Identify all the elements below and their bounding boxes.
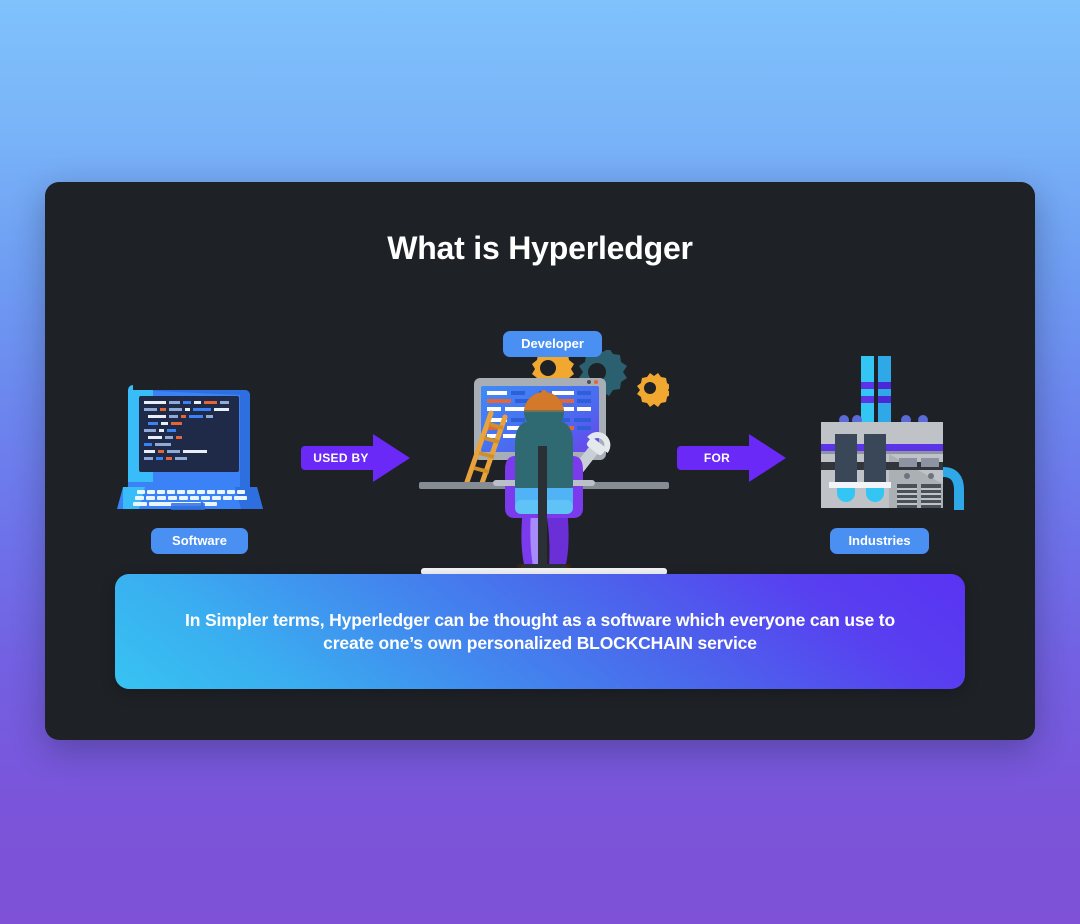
connector-for-label: FOR <box>677 430 757 486</box>
summary-text: In Simpler terms, Hyperledger can be tho… <box>160 609 920 655</box>
page-title: What is Hyperledger <box>45 230 1035 267</box>
laptop-with-code-icon <box>115 382 265 522</box>
node-label-software[interactable]: Software <box>151 528 248 554</box>
summary-banner: In Simpler terms, Hyperledger can be tho… <box>115 574 965 689</box>
factory-icon <box>811 354 966 519</box>
node-label-developer[interactable]: Developer <box>503 331 602 357</box>
connector-used-by: USED BY <box>301 430 414 486</box>
connector-used-by-label: USED BY <box>301 430 381 486</box>
connector-for: FOR <box>677 430 790 486</box>
node-label-industries[interactable]: Industries <box>830 528 929 554</box>
slide-card: What is Hyperledger <box>45 182 1035 740</box>
developer-at-desk-icon <box>419 350 669 575</box>
